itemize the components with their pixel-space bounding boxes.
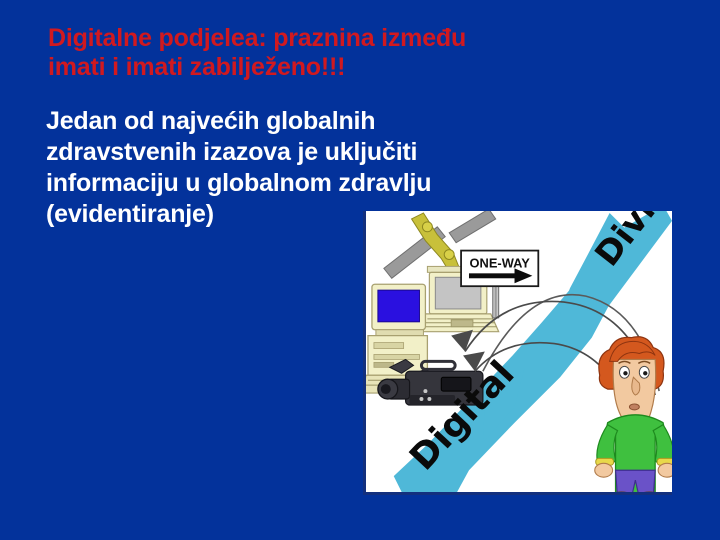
slide-title-line-1: Digitalne podjelea: praznina između (48, 24, 608, 53)
digital-divide-illustration: ONE-WAY (363, 211, 672, 495)
illustration-svg: ONE-WAY (366, 211, 672, 492)
slide-body-line-2: zdravstvenih izazova je uključiti (46, 137, 516, 168)
slide-title: Digitalne podjelea: praznina između imat… (48, 24, 608, 82)
slide-body-line-1: Jedan od najvećih globalnih (46, 106, 516, 137)
slide-body-line-3: informaciju u globalnom zdravlju (46, 168, 516, 199)
slide-canvas: Digitalne podjelea: praznina između imat… (0, 0, 720, 540)
one-way-sign-label: ONE-WAY (470, 255, 531, 270)
slide-title-line-2: imati i imati zabilježeno!!! (48, 53, 608, 82)
